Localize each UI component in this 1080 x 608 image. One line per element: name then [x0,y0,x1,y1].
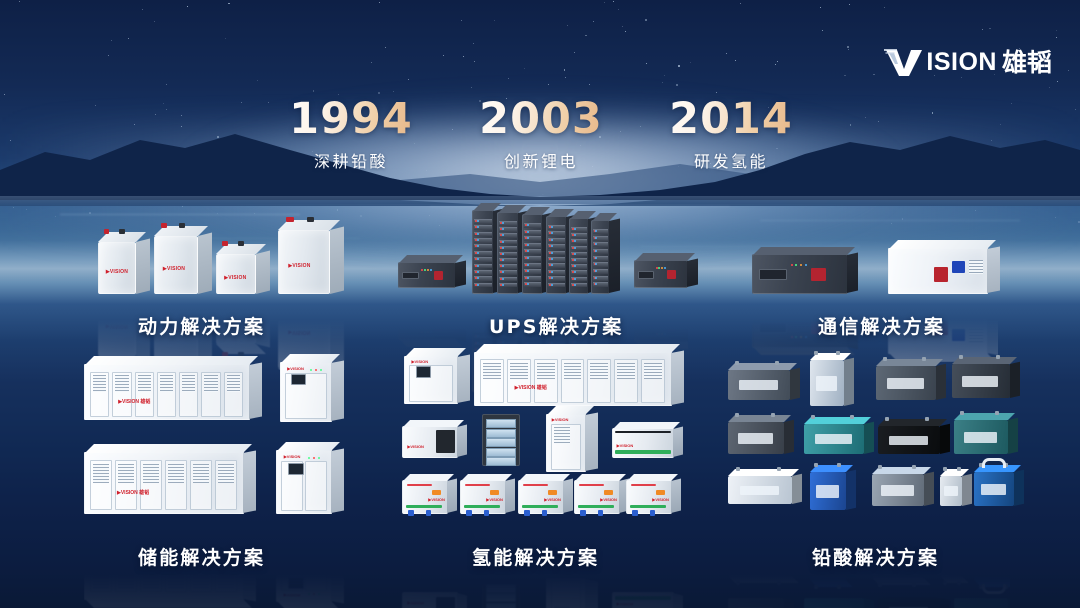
cabinet-door [281,541,303,591]
ventilation-grille [537,363,555,379]
display-panel [952,261,966,272]
milestone-1994: 1994 深耕铅酸 [256,98,446,172]
ventilation-grille [182,375,195,392]
ventilation-grille [483,363,501,379]
battery-post [957,467,961,471]
stack-plate [486,584,516,593]
leadacid-battery-12 [940,546,962,576]
status-led [427,269,429,271]
product-group-ups [398,208,688,300]
battery-post [943,581,947,585]
battery-label [815,434,852,444]
stack-plate [486,594,516,603]
battery-label [964,432,997,444]
rack-connector [434,322,443,331]
battery-terminal [222,241,228,246]
status-led [477,220,479,222]
status-led [477,233,479,235]
accent-block [656,490,665,495]
battery-post [771,413,775,417]
h2-fuelcell-stack [482,414,520,466]
accent-block [548,490,557,495]
ventilation-grille [93,464,109,483]
section-label-power: 动力解决方案 [138,312,265,339]
vision-logo-mark: ▶VISION [428,498,445,502]
status-led [551,284,553,286]
status-led [791,264,793,266]
accent-block [542,534,547,540]
leadacid-battery-5 [728,598,784,608]
status-led [551,226,553,228]
battery-handle [982,458,1006,468]
logo-wordmark-cn: 雄韬 [1002,50,1052,75]
milestone-year: 1994 [256,98,446,141]
leadacid-battery-12 [940,476,962,506]
status-led [795,336,797,338]
status-led [527,257,529,259]
control-screen [288,463,304,475]
battery-post [1004,585,1008,589]
accent-block [484,534,489,540]
stack-end [436,597,454,608]
status-led [551,271,553,273]
power-battery-3: ▶VISION [216,254,256,294]
status-led [574,259,576,261]
accent-block [598,534,603,540]
container-bay [90,542,112,592]
ventilation-grille [969,328,983,341]
leadacid-battery-11 [872,474,924,506]
accent-stripe [631,564,656,566]
section-label-hydrogen: 氢能解决方案 [472,543,599,570]
power-battery-2: ▶VISION [154,236,198,294]
status-led [574,247,576,249]
accent-block [656,555,665,560]
milestone-2014: 2014 研发氢能 [636,98,826,172]
status-led [502,247,504,249]
accent-block [432,490,441,495]
accent-block [650,510,655,516]
vision-logo-mark: ▶VISION [544,498,561,502]
vision-logo-mark: ▶VISION [617,602,634,606]
battery-post [878,465,882,469]
rack-panel [402,323,419,330]
status-led [313,457,315,459]
accent-block [408,510,414,517]
h2-module-4: ▶VISION [574,480,620,514]
power-battery-4: ▶VISION [278,230,330,294]
status-led [551,258,553,260]
status-led [791,336,793,338]
battery-terminal [238,241,244,246]
section-label-telecom: 通信解决方案 [818,312,945,339]
status-led [502,341,504,343]
status-led [527,224,529,226]
battery-label [889,436,927,446]
milestone-caption: 深耕铅酸 [256,148,446,172]
vision-logo-mark: ▶VISION [287,367,304,371]
stack-plate [486,457,516,466]
container-bay [115,542,137,592]
ventilation-grille [138,375,151,392]
status-led [502,222,504,224]
rack-panel [638,323,654,331]
cabinet-door [551,581,581,608]
leadacid-battery-6 [804,424,864,454]
ess-container-bottom: ▶VISION 雄韬 [84,452,244,514]
status-led [800,264,802,266]
accent-block [580,534,586,541]
product-group-ess: ▶VISION 雄韬▶VISION▶VISION 雄韬▶VISION [84,360,374,525]
battery-label [816,485,838,498]
battery-post [811,415,815,419]
battery-post [777,581,781,585]
accent-stripe [631,484,656,486]
ventilation-grille [115,375,128,392]
h2-fuelcell-stack [482,584,520,608]
battery-post [775,361,779,365]
accent-block [432,555,441,560]
status-led [477,329,479,331]
stack-top [615,431,670,434]
ventilation-grille [143,569,159,588]
ventilation-grille [143,464,159,483]
ventilation-grille [160,375,173,392]
ess-cabinet-bottom: ▶VISION [276,450,332,514]
h2-module-5: ▶VISION [626,480,672,514]
product-group-hydrogen: ▶VISION▶VISION 雄韬▶VISION▶VISION▶VISION▶V… [398,352,690,524]
accent-stripe [406,505,442,508]
section-label-ups: UPS解决方案 [489,312,623,339]
status-led [527,244,529,246]
accent-block [524,534,530,541]
ventilation-grille [168,464,184,483]
status-led [664,267,666,269]
status-led [424,269,426,271]
accent-block [426,534,431,540]
status-led [502,278,504,280]
telecom-rack-white [888,248,988,294]
h2-outdoor-cabinet: ▶VISION [546,414,586,472]
product-group-telecom [748,240,998,300]
status-led [574,265,576,267]
battery-post [736,467,740,471]
battery-post [735,361,739,365]
h2-cabinet-left: ▶VISION [404,356,458,404]
accent-stripe [630,542,666,545]
leadacid-battery-8 [954,420,1008,454]
status-led [795,264,797,266]
vision-logo-mark: ▶VISION [284,593,301,597]
battery-label [740,557,780,567]
battery-terminal [307,217,314,222]
vision-logo-mark: ▶VISION [652,498,669,502]
battery-terminal [286,217,293,222]
battery-label [738,433,773,444]
leadacid-battery-1 [728,370,790,400]
vision-logo-mark: ▶VISION [486,498,503,502]
status-led [661,333,663,335]
vision-logo-mark: ▶VISION [224,276,246,281]
accent-stripe [630,505,666,508]
milestone-caption: 研发氢能 [636,148,826,172]
status-led [502,284,504,286]
battery-post [883,357,887,361]
status-led [527,264,529,266]
battery-post [814,585,818,589]
ventilation-grille [204,375,217,392]
vision-logo-mark: ▶VISION [617,444,634,448]
ups-cabinet-1 [472,210,494,294]
logo-wordmark: ISION [926,50,997,75]
stack-plate [486,603,516,608]
status-led [477,316,479,318]
milestone-year: 2014 [636,98,826,141]
status-led [551,252,553,254]
rack-panel [638,271,654,279]
status-led [313,593,315,595]
battery-post [850,415,854,419]
accent-stripe [578,505,614,508]
status-led [500,341,502,343]
h2-fuelcell-large-right: ▶VISION [612,428,674,458]
vision-logo-mark: ▶VISION [288,264,310,269]
status-led [574,284,576,286]
battery-post [995,411,999,415]
power-battery-1: ▶VISION [98,242,136,294]
rack-connector [434,271,443,280]
ups-cabinet-3 [522,214,543,294]
status-led [477,265,479,267]
milestone-2003: 2003 创新锂电 [446,98,636,172]
status-led [574,278,576,280]
accent-stripe [615,596,670,600]
ventilation-grille [227,375,240,392]
status-led [421,331,423,333]
status-led [477,323,479,325]
battery-post [885,417,889,421]
vision-logo-mark: ▶VISION [284,455,301,459]
vision-logo-mark: ▶VISION [600,498,617,502]
h2-module-2: ▶VISION [460,480,506,514]
milestone-year: 2003 [446,98,636,141]
battery-post [878,583,882,587]
accent-block [542,510,547,516]
vision-logo-mark: ▶VISION [428,548,445,552]
battery-handle [982,584,1006,594]
product-group-leadacid [726,360,1010,525]
leadacid-battery-10 [810,472,846,510]
ups-cabinet-4 [546,216,567,294]
accent-block [426,510,431,516]
leadacid-battery-9 [728,548,792,576]
vision-logo-mark: ▶VISION [407,601,424,605]
status-led [310,369,312,371]
battery-post [960,411,964,415]
h2-fuelcell-large-right: ▶VISION [612,592,674,608]
stack-plate [486,438,516,447]
battery-label [887,378,924,390]
status-led [475,316,477,318]
battery-label [740,486,780,496]
battery-post [777,467,781,471]
leadacid-battery-7 [878,598,940,608]
control-screen [291,374,306,385]
stack-end [436,430,454,453]
vision-logo-mark: ▶VISION [552,418,569,422]
leadacid-battery-7 [878,426,940,454]
ventilation-grille [118,569,134,588]
accent-stripe [406,542,442,545]
accent-block [604,490,613,495]
status-led [664,333,666,335]
h2-module-1: ▶VISION [402,480,448,514]
status-led [430,331,432,333]
stack-plate [486,448,516,457]
leadacid-battery-13 [974,472,1014,506]
ventilation-grille [554,427,570,444]
vision-logo-mark: ▶VISION 雄韬 [117,491,149,496]
battery-label [981,557,1006,569]
battery-post [943,467,947,471]
power-connector [934,267,948,282]
ventilation-grille [969,260,983,273]
battery-post [836,351,840,355]
status-led [318,593,320,595]
battery-terminal [119,229,124,234]
status-led [430,269,432,271]
power-battery-1: ▶VISION [98,304,136,356]
battery-post [979,585,983,589]
accent-block [524,510,530,517]
brand-logo: ISION 雄韬 [884,47,1052,77]
rack-panel [759,322,787,333]
battery-terminal [179,223,185,228]
status-led [475,329,477,331]
milestone-caption: 创新锂电 [446,148,636,172]
ups-cabinet-2 [497,212,519,294]
product-group-power: ▶VISION▶VISION▶VISION▶VISION [92,228,362,298]
leadacid-battery-2 [810,360,844,406]
rack-connector [667,270,675,280]
accent-block [650,534,655,540]
battery-post [957,581,961,585]
ventilation-grille [644,363,662,379]
status-led [527,231,529,233]
accent-block [632,510,638,517]
accent-stripe [523,484,548,486]
accent-block [484,510,489,516]
vision-logo-mark: ▶VISION 雄韬 [515,386,547,391]
h2-module-3: ▶VISION [518,480,564,514]
accent-block [632,534,638,541]
status-led [424,331,426,333]
status-led [318,457,320,459]
status-led [308,457,310,459]
vision-logo-mark: ▶VISION [600,548,617,552]
leadacid-battery-5 [728,422,784,454]
status-led [661,267,663,269]
status-led [800,336,802,338]
ventilation-grille [564,363,582,379]
accent-stripe [615,450,670,454]
h2-module-1: ▶VISION [402,536,448,570]
stack-plate [486,429,516,438]
battery-label [816,376,837,392]
accent-block [580,510,586,517]
status-led [477,252,479,254]
battery-post [912,465,916,469]
leadacid-battery-13 [974,546,1014,580]
vision-logo-mark: ▶VISION [106,270,128,275]
ventilation-grille [218,464,234,483]
accent-stripe [464,505,500,508]
vision-logo-mark: ▶VISION [106,323,128,328]
status-led [475,342,477,344]
status-led [315,369,317,371]
status-led [477,335,479,337]
battery-post [912,583,916,587]
accent-block [408,534,414,541]
status-led [805,264,807,266]
h2-fuelcell-large-left: ▶VISION [402,426,458,458]
ventilation-grille [93,375,106,392]
vision-v-mark-icon [884,47,924,77]
ventilation-grille [93,569,109,588]
display-panel [952,329,966,340]
battery-label [944,556,958,566]
ups-rack-unit-left [398,262,456,288]
accent-block [466,534,472,541]
vision-logo-mark: ▶VISION 雄韬 [118,400,150,405]
ups-cabinet-5 [569,218,589,294]
status-led [805,336,807,338]
accent-stripe [579,484,604,486]
status-led [574,341,576,343]
h2-fuelcell-large-left: ▶VISION [402,592,458,608]
ventilation-grille [193,569,209,588]
battery-post [814,463,818,467]
ventilation-grille [617,363,635,379]
status-led [477,342,479,344]
ventilation-grille [193,464,209,483]
battery-post [922,357,926,361]
stack-plate [486,419,516,428]
status-led [427,331,429,333]
battery-post [837,463,841,467]
battery-post [996,355,1000,359]
battery-label [962,376,998,388]
vision-logo-mark: ▶VISION [163,267,185,272]
rack-connector [811,268,826,282]
status-led [421,269,423,271]
vision-logo-mark: ▶VISION [288,329,310,334]
accent-stripe [407,484,432,486]
accent-block [490,490,499,495]
ups-rack-unit-right [634,314,688,342]
telecom-rack-dark [752,254,848,294]
status-led [308,593,310,595]
battery-post [735,413,739,417]
leadacid-battery-9 [728,476,792,504]
accent-block [466,510,472,517]
h2-outdoor-cabinet: ▶VISION [546,578,586,608]
status-led [574,253,576,255]
vision-logo-mark: ▶VISION [652,548,669,552]
ess-cabinet-bottom: ▶VISION [276,538,332,602]
status-led [475,335,477,337]
status-led [475,323,477,325]
